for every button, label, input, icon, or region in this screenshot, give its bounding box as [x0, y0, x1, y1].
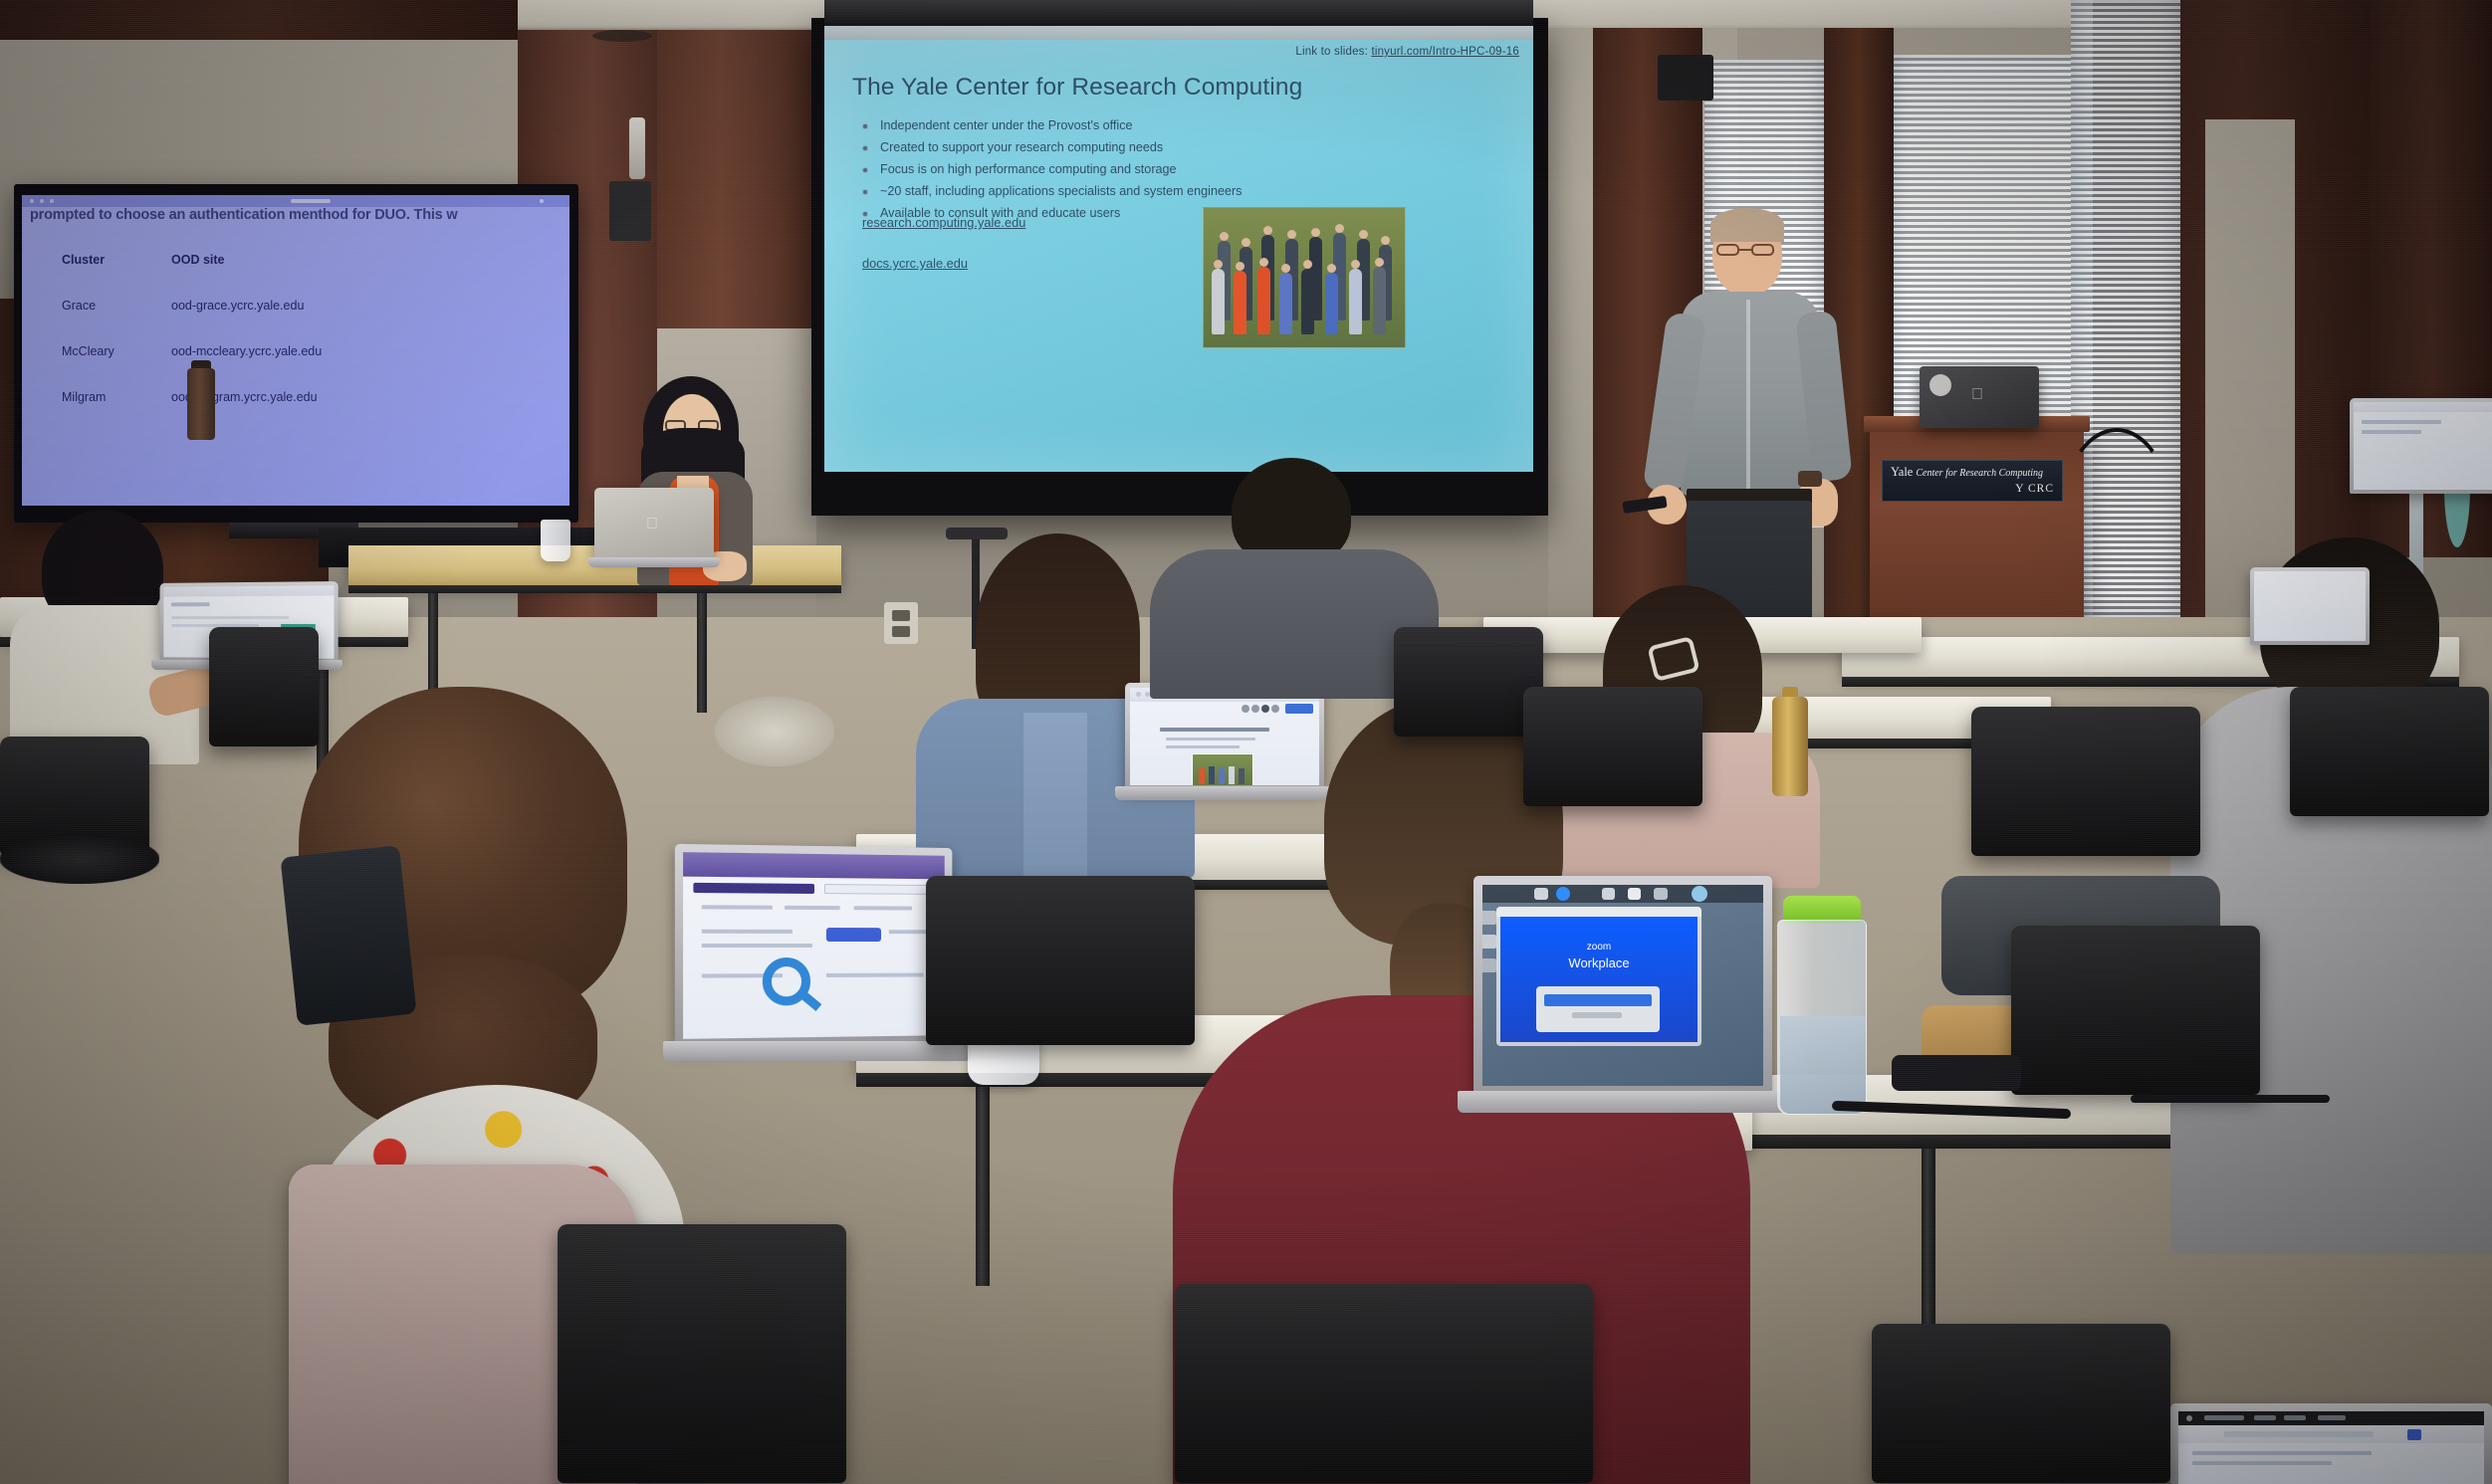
wall-outlet[interactable] — [884, 602, 918, 644]
tv-cut-off-text: prompted to choose an authentication men… — [30, 207, 556, 223]
desktop-file-icon[interactable] — [1482, 935, 1496, 949]
lectern-sign: YaleCenter for Research Computing Y CRC — [1882, 460, 2063, 502]
chair[interactable] — [1175, 1284, 1593, 1483]
desktop-file-icon[interactable] — [1482, 958, 1496, 972]
chair[interactable] — [558, 1224, 846, 1483]
chrome-menu-label[interactable] — [2204, 1415, 2244, 1420]
attendee-right-back-laptop[interactable] — [2350, 398, 2492, 508]
attendee-right-side-laptop[interactable] — [2250, 567, 2370, 657]
ood-sites-table: Cluster OOD site Grace ood-grace.ycrc.ya… — [62, 243, 530, 426]
host-macbook[interactable]:  — [594, 488, 714, 567]
slide-bullet: Independent center under the Provost's o… — [860, 118, 1378, 132]
slide-team-photo — [1203, 207, 1406, 348]
wall-speaker — [1658, 55, 1713, 101]
table-row: Grace ood-grace.ycrc.yale.edu — [62, 289, 530, 334]
q-logo-icon — [763, 957, 810, 1005]
table-row: McCleary ood-mccleary.ycrc.yale.edu — [62, 334, 530, 380]
wall-panel-box — [609, 181, 651, 241]
projected-slide: Link to slides: tinyurl.com/Intro-HPC-09… — [824, 26, 1533, 472]
cell-cluster: Milgram — [62, 380, 171, 426]
apple-menu-icon[interactable] — [2186, 1415, 2192, 1421]
backpack — [280, 845, 416, 1026]
slide-link-line: Link to slides: tinyurl.com/Intro-HPC-09… — [1295, 46, 1519, 58]
table-header-row: Cluster OOD site — [62, 243, 530, 289]
table-row: Milgram ood-milgram.ycrc.yale.edu — [62, 380, 530, 426]
denim-back-seam — [1023, 713, 1087, 878]
host-paper-cup[interactable] — [541, 520, 570, 561]
projection-screen-casing — [824, 0, 1533, 26]
front-row-table-leg — [976, 1087, 990, 1286]
wall-header-left — [0, 0, 518, 40]
cell-ood-site: ood-milgram.ycrc.yale.edu — [171, 380, 530, 426]
zoom-icon[interactable] — [1556, 887, 1570, 901]
presenter — [1633, 204, 1872, 632]
bottle-water-level — [1780, 1016, 1866, 1114]
chair-base — [0, 834, 159, 884]
cell-ood-site: ood-grace.ycrc.yale.edu — [171, 289, 530, 334]
sign-brand: Yale — [1891, 465, 1913, 479]
zoom-window[interactable]: zoom Workplace — [1496, 907, 1701, 1046]
app-icon[interactable] — [1654, 888, 1668, 900]
chair[interactable] — [1394, 627, 1543, 737]
nalgene-bottle[interactable] — [1777, 896, 1867, 1115]
insulated-bottle[interactable] — [187, 360, 215, 440]
finder-icon[interactable] — [1534, 888, 1548, 900]
wall-card-reader[interactable] — [629, 117, 645, 179]
laptop-sticker — [1929, 374, 1951, 396]
classroom-scene: Link to slides: tinyurl.com/Intro-HPC-09… — [0, 0, 2492, 1484]
front-table-edge — [348, 585, 841, 593]
ceiling-speaker — [592, 30, 652, 42]
slide-title: The Yale Center for Research Computing — [852, 74, 1302, 102]
slide-bullet: Focus is on high performance computing a… — [860, 162, 1378, 176]
podium-cable — [2057, 428, 2176, 627]
slide-link-label: Link to slides: — [1295, 46, 1368, 58]
attendee-floral-laptop[interactable] — [677, 846, 956, 1075]
attendee-maroon-laptop[interactable]: zoom Workplace — [1473, 876, 1772, 1125]
sign-acronym: Y CRC — [1891, 483, 2054, 495]
wall-tv-screen: prompted to choose an authentication men… — [22, 195, 569, 506]
zoom-signin-field[interactable] — [1544, 994, 1652, 1006]
shirt-placket — [1746, 300, 1750, 489]
slide-url-list: research.computing.yale.edu docs.ycrc.ya… — [862, 215, 1025, 297]
chair[interactable] — [2011, 926, 2260, 1095]
glasses-icon — [1716, 244, 1774, 256]
chair[interactable] — [1971, 707, 2200, 856]
globe-icon[interactable] — [1692, 886, 1707, 902]
column-header-ood-site: OOD site — [171, 243, 530, 289]
app-icon[interactable] — [1628, 888, 1641, 900]
chair[interactable] — [2290, 687, 2489, 816]
slide-url-research-computing[interactable]: research.computing.yale.edu — [862, 215, 1025, 230]
cell-cluster: Grace — [62, 289, 171, 334]
column-header-cluster: Cluster — [62, 243, 171, 289]
slide-link-url[interactable]: tinyurl.com/Intro-HPC-09-16 — [1371, 46, 1519, 58]
slide-window-chrome — [824, 26, 1533, 40]
app-icon[interactable] — [1602, 888, 1615, 900]
zoom-app-line1: zoom — [1500, 941, 1698, 954]
slide-bullet: ~20 staff, including applications specia… — [860, 184, 1378, 198]
cell-ood-site: ood-mccleary.ycrc.yale.edu — [171, 334, 530, 380]
primary-action-button[interactable] — [826, 928, 881, 942]
slide-bullet: Created to support your research computi… — [860, 140, 1378, 154]
chair[interactable] — [1872, 1324, 2170, 1483]
zoom-app-line2: Workplace — [1500, 954, 1698, 972]
sign-name: Center for Research Computing — [1916, 468, 2043, 479]
chair[interactable] — [926, 876, 1195, 1045]
wristwatch — [1798, 471, 1822, 487]
desktop-file-icon[interactable] — [1482, 911, 1496, 925]
bottom-right-laptop[interactable] — [2170, 1403, 2492, 1484]
gold-water-bottle[interactable] — [1772, 687, 1808, 796]
cable — [2131, 1095, 2330, 1103]
slide-url-docs[interactable]: docs.ycrc.yale.edu — [862, 256, 1025, 271]
podium-laptop[interactable]:  — [1920, 366, 2039, 428]
chair[interactable] — [1523, 687, 1702, 806]
mac-menubar — [1482, 885, 1763, 903]
presenter-hair — [1710, 208, 1784, 242]
cell-cluster: McCleary — [62, 334, 171, 380]
tv-browser-chrome — [22, 195, 569, 207]
browser-profile-icon[interactable] — [2407, 1429, 2421, 1440]
power-brick — [1892, 1055, 2021, 1091]
